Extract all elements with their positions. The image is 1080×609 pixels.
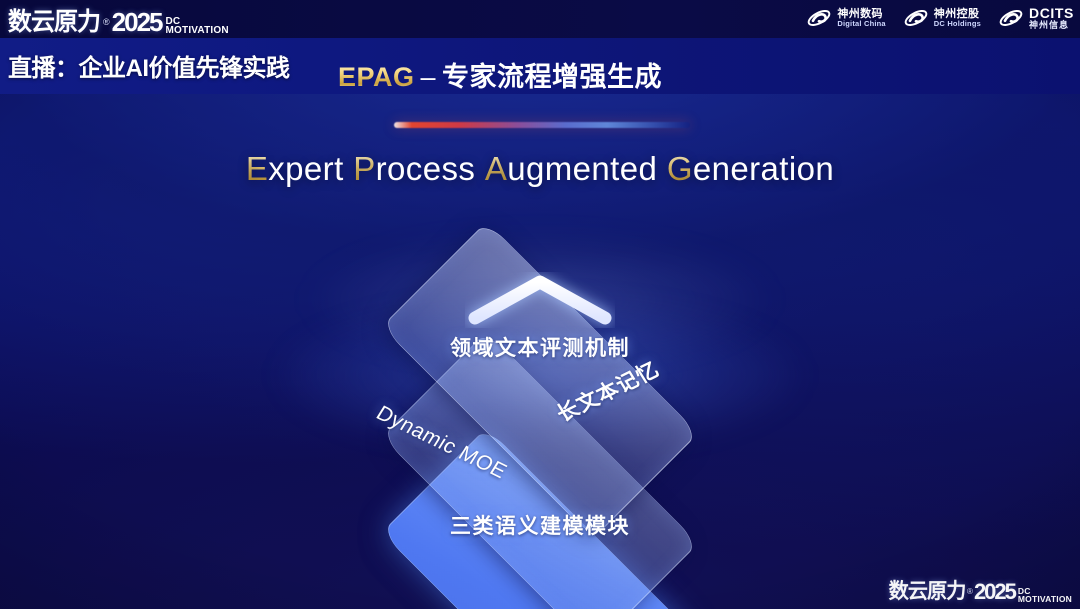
live-stream-title: 直播：企业AI价值先锋实践 bbox=[8, 48, 290, 83]
subtitle-rest-expert: xpert bbox=[268, 150, 343, 187]
headline-dash: – bbox=[415, 62, 443, 92]
subtitle-rest-process: rocess bbox=[376, 150, 476, 187]
subtitle-cap-g: G bbox=[667, 150, 693, 187]
corner-watermark-logo: 数云原力®2025 DC MOTIVATION bbox=[887, 575, 1072, 605]
event-logo-year: 2025 bbox=[112, 7, 162, 38]
partner-text: DCITS 神州信息 bbox=[1029, 6, 1074, 29]
subtitle-rest-augmented: ugmented bbox=[507, 150, 657, 187]
watermark-dc-line2: MOTIVATION bbox=[1018, 596, 1072, 603]
partner-name-en: Digital China bbox=[837, 20, 885, 28]
partner-logo-dc-holdings[interactable]: 神州控股 DC Holdings bbox=[903, 5, 981, 31]
event-logo-chinese: 数云原力 bbox=[8, 2, 100, 38]
subtitle-rest-generation: eneration bbox=[693, 150, 834, 187]
swirl-icon bbox=[806, 5, 832, 31]
headline-acronym: EPAG bbox=[338, 62, 415, 92]
subtitle-cap-e: E bbox=[246, 150, 268, 187]
chevron-up-icon bbox=[465, 272, 615, 328]
watermark-year: 2025 bbox=[974, 579, 1015, 605]
event-logo-dc: DC MOTIVATION bbox=[166, 18, 229, 36]
swirl-icon bbox=[998, 5, 1024, 31]
partner-logo-dcits[interactable]: DCITS 神州信息 bbox=[998, 5, 1074, 31]
subtitle-cap-p: P bbox=[353, 150, 375, 187]
layer-label-bottom: 三类语义建模模块 bbox=[0, 510, 1080, 540]
partner-name-en: DC Holdings bbox=[934, 20, 981, 28]
slide-subtitle: Expert Process Augmented Generation bbox=[0, 150, 1080, 188]
swirl-icon bbox=[903, 5, 929, 31]
headline-chinese: 专家流程增强生成 bbox=[442, 62, 662, 92]
watermark-dc: DC MOTIVATION bbox=[1018, 588, 1072, 603]
registered-mark-icon: ® bbox=[103, 17, 110, 27]
gradient-divider bbox=[394, 122, 690, 128]
partner-name-en: 神州信息 bbox=[1029, 21, 1074, 30]
partner-text: 神州数码 Digital China bbox=[837, 9, 885, 28]
partner-logo-group: 神州数码 Digital China 神州控股 DC Holdings bbox=[806, 5, 1074, 31]
partner-logo-digital-china[interactable]: 神州数码 Digital China bbox=[806, 5, 885, 31]
slide-headline: EPAG–专家流程增强生成 bbox=[338, 55, 662, 94]
watermark-chinese: 数云原力 bbox=[889, 575, 966, 605]
partner-name-cn: DCITS bbox=[1029, 6, 1074, 20]
partner-text: 神州控股 DC Holdings bbox=[934, 9, 981, 28]
watermark-registered-icon: ® bbox=[967, 587, 973, 596]
layer-label-top: 领域文本评测机制 bbox=[0, 332, 1080, 362]
event-logo-dc-line2: MOTIVATION bbox=[166, 27, 229, 36]
top-bar: 数云原力®2025 DC MOTIVATION 神州数码 Digital Chi… bbox=[0, 0, 1080, 38]
slide-canvas: 领域文本评测机制 Dynamic MOE 长文本记忆 三类语义建模模块 直播：企… bbox=[0, 0, 1080, 609]
event-logo[interactable]: 数云原力®2025 DC MOTIVATION bbox=[6, 2, 229, 38]
subtitle-cap-a: A bbox=[485, 150, 507, 187]
